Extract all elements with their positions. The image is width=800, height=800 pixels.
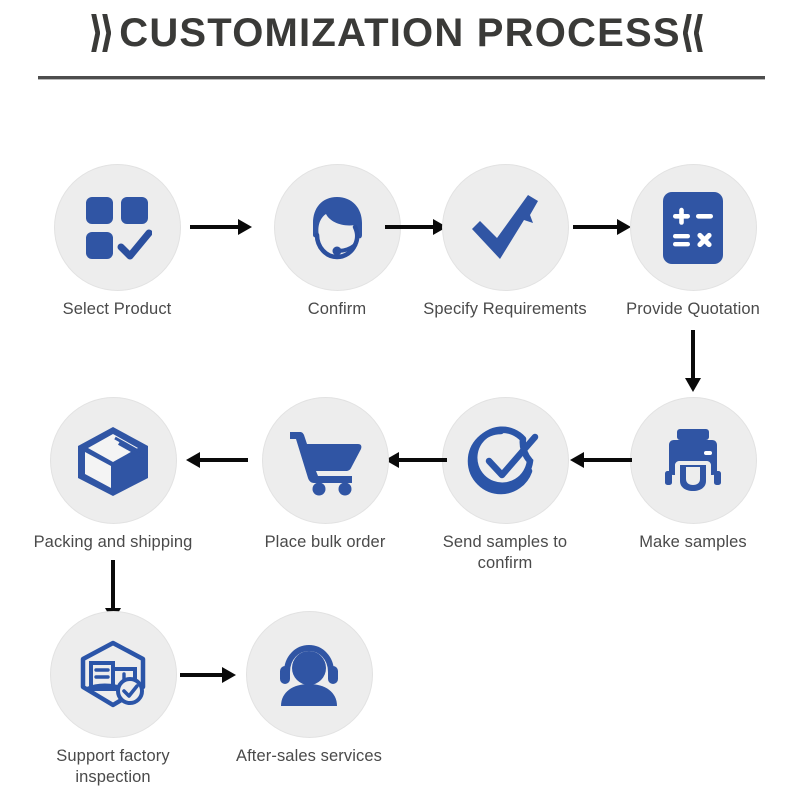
- step-label: Send samples to confirm: [420, 532, 590, 574]
- title-divider: [38, 76, 765, 80]
- step-after-sales-services[interactable]: After-sales services: [224, 612, 394, 767]
- grid-check-icon: [82, 193, 152, 263]
- step-select-product[interactable]: Select Product: [32, 165, 202, 320]
- step-make-samples[interactable]: Make samples: [608, 398, 778, 553]
- step-icon-circle: [443, 398, 568, 523]
- step-label: Provide Quotation: [608, 299, 778, 320]
- step-icon-circle: [443, 165, 568, 290]
- step-label: Confirm: [252, 299, 422, 320]
- step-label: Make samples: [608, 532, 778, 553]
- step-place-bulk-order[interactable]: Place bulk order: [240, 398, 410, 553]
- double-chevron-left-icon: [681, 10, 711, 56]
- printer-machine-icon: [655, 427, 731, 495]
- step-icon-circle: [51, 612, 176, 737]
- title-row: CUSTOMIZATION PROCESS: [0, 10, 800, 56]
- step-label: Place bulk order: [240, 532, 410, 553]
- step-label: Packing and shipping: [28, 532, 198, 553]
- step-label: Specify Requirements: [420, 299, 590, 320]
- step-icon-circle: [631, 398, 756, 523]
- calculator-icon: [661, 190, 725, 266]
- step-icon-circle: [51, 398, 176, 523]
- person-headset-icon: [271, 642, 347, 708]
- step-packing-and-shipping[interactable]: Packing and shipping: [28, 398, 198, 553]
- step-label: After-sales services: [224, 746, 394, 767]
- step-provide-quotation[interactable]: Provide Quotation: [608, 165, 778, 320]
- support-agent-headset-icon: [300, 191, 374, 265]
- step-confirm[interactable]: Confirm: [252, 165, 422, 320]
- step-send-samples-to-confirm[interactable]: Send samples to confirm: [420, 398, 590, 574]
- page-title: CUSTOMIZATION PROCESS: [119, 11, 681, 56]
- customization-process-infographic: { "header": { "title": "CUSTOMIZATION PR…: [0, 0, 800, 800]
- step-icon-circle: [247, 612, 372, 737]
- double-chevron-right-icon: [89, 10, 119, 56]
- connector-arrow-4-5: [683, 330, 703, 392]
- step-support-factory-inspection[interactable]: Support factory inspection: [28, 612, 198, 788]
- checkmark-icon: [466, 191, 544, 265]
- connector-arrow-1-2: [190, 217, 252, 237]
- shopping-cart-icon: [286, 426, 364, 496]
- page-header: CUSTOMIZATION PROCESS: [0, 0, 800, 92]
- factory-inspection-badge-icon: [75, 639, 151, 711]
- step-specify-requirements[interactable]: Specify Requirements: [420, 165, 590, 320]
- package-box-icon: [75, 424, 151, 498]
- step-icon-circle: [631, 165, 756, 290]
- step-icon-circle: [275, 165, 400, 290]
- step-icon-circle: [263, 398, 388, 523]
- step-label: Select Product: [32, 299, 202, 320]
- step-icon-circle: [55, 165, 180, 290]
- step-label: Support factory inspection: [28, 746, 198, 788]
- circle-check-icon: [465, 423, 545, 499]
